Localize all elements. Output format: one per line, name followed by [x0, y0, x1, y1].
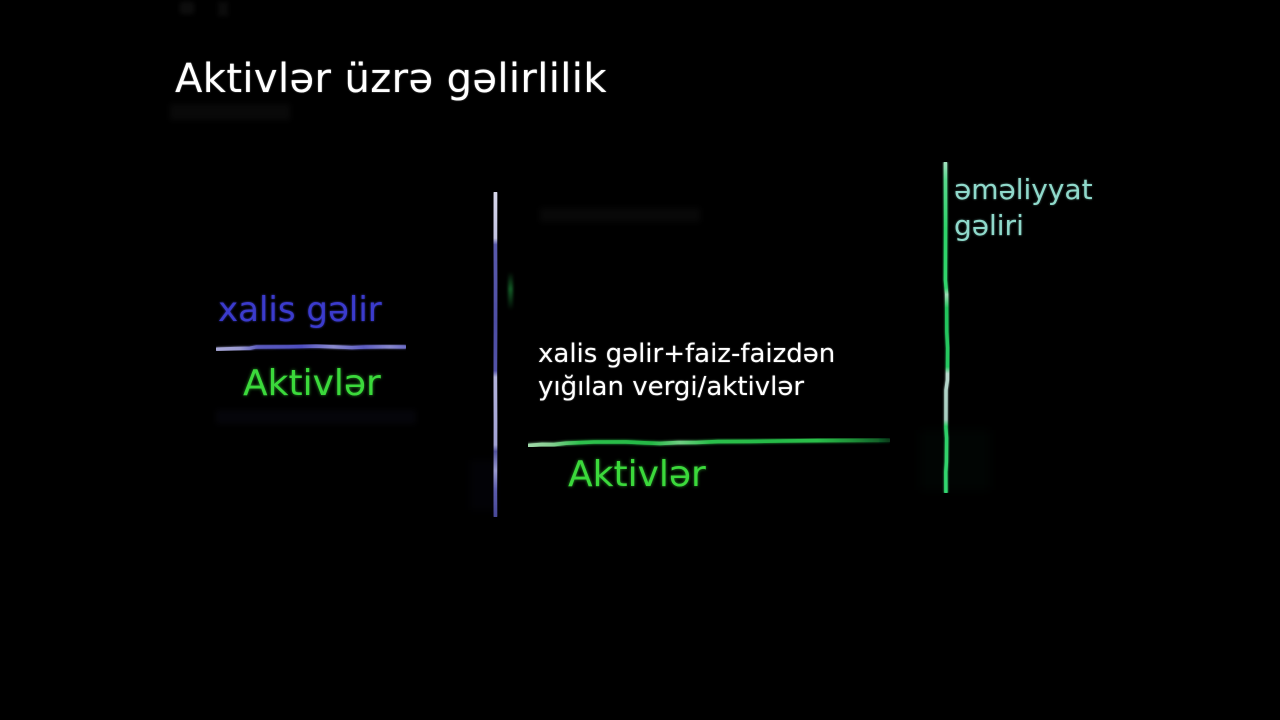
ghost-artifact	[170, 104, 290, 120]
ghost-artifact	[920, 430, 990, 490]
middle-fraction-numerator: xalis gəlir+faiz-faizdən yığılan vergi/a…	[538, 338, 835, 404]
whiteboard-canvas: Aktivlər üzrə gəlirlilik xalis gəlir Akt…	[0, 0, 1280, 720]
ghost-artifact	[218, 2, 228, 16]
vertical-separator-line	[492, 192, 499, 517]
page-title: Aktivlər üzrə gəlirlilik	[175, 58, 607, 100]
operating-income-bracket	[942, 162, 950, 493]
left-fraction-denominator: Aktivlər	[243, 366, 381, 402]
ghost-artifact	[180, 2, 194, 14]
middle-fraction-denominator: Aktivlər	[568, 457, 706, 493]
left-fraction-bar	[216, 344, 406, 351]
ghost-artifact	[216, 410, 416, 424]
ghost-stroke-artifact	[508, 272, 513, 310]
operating-income-label: əməliyyat gəliri	[954, 172, 1093, 244]
middle-fraction-bar	[528, 438, 890, 447]
left-fraction-numerator: xalis gəlir	[218, 293, 382, 327]
ghost-artifact	[540, 208, 700, 222]
